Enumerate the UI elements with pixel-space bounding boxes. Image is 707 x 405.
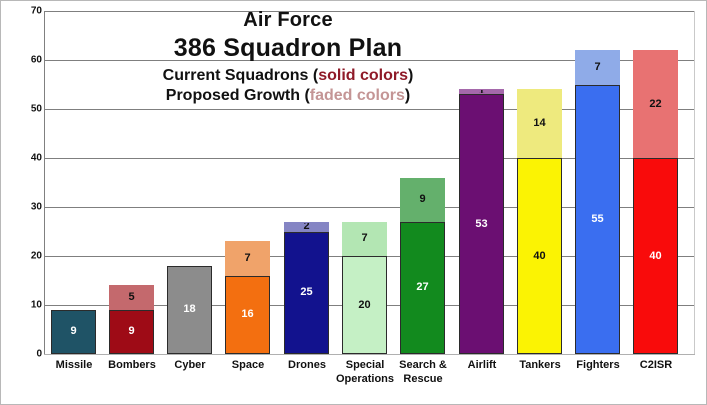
bar-value-current: 27 [416,282,428,293]
x-axis-label-drones: Drones [274,358,340,372]
x-axis-label-line: Special [332,358,398,372]
bar-segment-current: 16 [225,276,270,354]
bar-value-current: 9 [128,326,134,337]
bar-segment-current: 40 [633,158,678,354]
x-axis-label-line: Bombers [99,358,165,372]
bar-segment-current: 9 [109,310,154,354]
x-axis-label-line: C2ISR [623,358,689,372]
gridline-70 [44,11,695,12]
y-axis: 010203040506070 [1,11,42,354]
bar-cyber[interactable]: 18 [167,266,212,354]
bar-value-current: 40 [649,251,661,262]
bar-segment-current: 40 [517,158,562,354]
x-axis-label-line: Operations [332,372,398,386]
bar-tankers[interactable]: 1440 [517,89,562,354]
bar-search-rescue[interactable]: 927 [400,178,445,354]
x-axis-label-tankers: Tankers [507,358,573,372]
bar-segment-current: 25 [284,232,329,355]
x-axis-label-line: Airlift [449,358,515,372]
x-axis-label-line: Fighters [565,358,631,372]
bar-drones[interactable]: 225 [284,222,329,354]
x-axis-label-search-rescue: Search &Rescue [390,358,456,386]
bar-segment-current: 53 [459,94,504,354]
bar-missile[interactable]: 9 [51,310,96,354]
bar-segment-growth: 22 [633,50,678,158]
bar-value-growth: 14 [533,118,545,129]
y-tick-label-20: 20 [6,251,42,262]
bar-segment-growth: 5 [109,285,154,310]
bar-airlift[interactable]: 153 [459,89,504,354]
bar-value-current: 55 [591,214,603,225]
bar-space[interactable]: 716 [225,241,270,354]
bar-value-growth: 22 [649,99,661,110]
bar-bombers[interactable]: 59 [109,285,154,354]
bar-value-current: 9 [70,326,76,337]
y-tick-label-10: 10 [6,300,42,311]
bar-value-growth: 7 [594,62,600,73]
y-tick-label-0: 0 [6,349,42,360]
bar-segment-growth: 7 [225,241,270,275]
x-axis-label-missile: Missile [41,358,107,372]
bar-segment-current: 18 [167,266,212,354]
y-tick-label-40: 40 [6,153,42,164]
gridline-0 [44,354,695,355]
bar-segment-growth: 9 [400,178,445,222]
bar-segment-growth: 7 [575,50,620,84]
x-axis-label-c2isr: C2ISR [623,358,689,372]
bar-value-current: 40 [533,251,545,262]
y-tick-label-70: 70 [6,6,42,17]
bar-segment-growth: 14 [517,89,562,158]
x-axis-label-line: Space [215,358,281,372]
x-axis-label-line: Drones [274,358,340,372]
x-axis-label-line: Missile [41,358,107,372]
x-axis-label-line: Cyber [157,358,223,372]
bar-special-operations[interactable]: 720 [342,222,387,354]
bar-value-current: 18 [183,304,195,315]
x-axis-label-line: Search & [390,358,456,372]
x-axis-label-line: Rescue [390,372,456,386]
bar-segment-current: 20 [342,256,387,354]
bar-value-growth: 2 [303,222,309,232]
bar-value-growth: 9 [419,194,425,205]
x-axis-label-airlift: Airlift [449,358,515,372]
x-axis-label-line: Tankers [507,358,573,372]
bar-segment-current: 9 [51,310,96,354]
x-axis-label-cyber: Cyber [157,358,223,372]
bar-c2isr[interactable]: 2240 [633,50,678,354]
bar-segment-growth: 2 [284,222,329,232]
bar-value-current: 20 [358,300,370,311]
x-axis-labels: MissileBombersCyberSpaceDronesSpecialOpe… [44,358,695,400]
x-axis-label-bombers: Bombers [99,358,165,372]
bar-value-current: 53 [475,219,487,230]
bar-segment-current: 27 [400,222,445,354]
x-axis-label-special-operations: SpecialOperations [332,358,398,386]
y-tick-label-50: 50 [6,104,42,115]
bar-value-growth: 7 [361,233,367,244]
bar-segment-current: 55 [575,85,620,355]
bar-segment-growth: 7 [342,222,387,256]
bar-value-current: 25 [300,287,312,298]
bar-value-growth: 7 [244,253,250,264]
plot-area: 9591871622572092715314407552240 [44,11,695,354]
chart-frame: 010203040506070 959187162257209271531440… [0,0,707,405]
bar-fighters[interactable]: 755 [575,50,620,354]
bar-value-current: 16 [241,309,253,320]
x-axis-label-fighters: Fighters [565,358,631,372]
x-axis-label-space: Space [215,358,281,372]
y-tick-label-30: 30 [6,202,42,213]
y-tick-label-60: 60 [6,55,42,66]
bar-value-growth: 5 [128,292,134,303]
